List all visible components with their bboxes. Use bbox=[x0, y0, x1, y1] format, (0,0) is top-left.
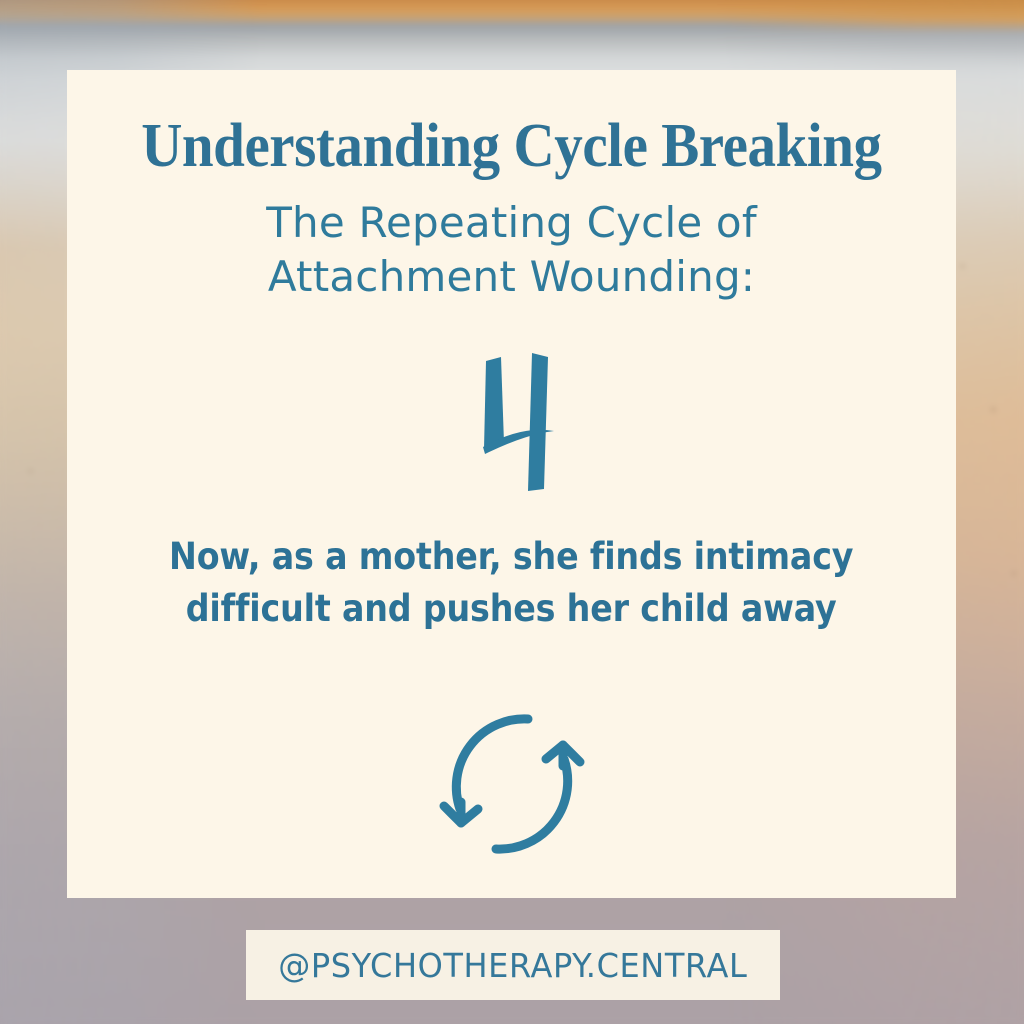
body-text-line-1: Now, as a mother, she finds intimacy bbox=[169, 531, 853, 583]
cycle-icon-container bbox=[426, 699, 598, 869]
handle-band: @PSYCHOTHERAPY.CENTRAL bbox=[246, 930, 780, 1000]
subtitle-line-1: The Repeating Cycle of bbox=[266, 196, 757, 251]
body-text-line-2: difficult and pushes her child away bbox=[169, 583, 853, 635]
page-title: Understanding Cycle Breaking bbox=[141, 70, 881, 180]
subtitle: The Repeating Cycle of Attachment Woundi… bbox=[266, 180, 757, 305]
content-card-inner: Understanding Cycle Breaking The Repeati… bbox=[67, 70, 956, 898]
subtitle-line-2: Attachment Wounding: bbox=[266, 250, 757, 305]
cycle-refresh-arrows-icon bbox=[426, 699, 598, 869]
body-text: Now, as a mother, she finds intimacy dif… bbox=[169, 509, 853, 635]
step-number: 4 bbox=[422, 339, 602, 509]
content-card: Understanding Cycle Breaking The Repeati… bbox=[67, 70, 956, 898]
account-handle: @PSYCHOTHERAPY.CENTRAL bbox=[278, 946, 747, 985]
poster-canvas: Understanding Cycle Breaking The Repeati… bbox=[0, 0, 1024, 1024]
numeral-four-glyph bbox=[422, 339, 602, 509]
